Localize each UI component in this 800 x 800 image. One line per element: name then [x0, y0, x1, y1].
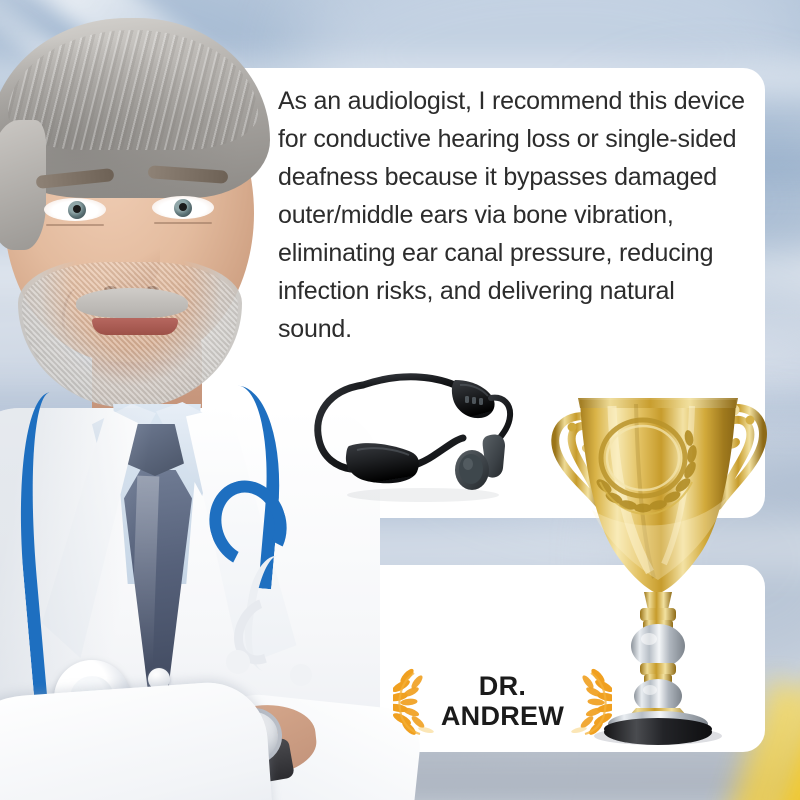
eye-crease: [154, 222, 212, 224]
mouth: [92, 318, 178, 335]
product-image-headphones: [305, 352, 535, 512]
arm-left: [0, 679, 276, 800]
ad-creative-canvas: As an audiologist, I recommend this devi…: [0, 0, 800, 800]
stethoscope-eartip: [226, 650, 250, 674]
doctor-name-badge: DR. ANDREW: [400, 660, 605, 742]
eye-left: [44, 198, 106, 221]
pupil: [73, 205, 81, 213]
mustache: [76, 288, 188, 318]
bone-conduction-headphones-icon: [305, 352, 535, 512]
doctor-name: DR. ANDREW: [439, 671, 566, 731]
testimonial-text: As an audiologist, I recommend this devi…: [278, 82, 748, 348]
pupil: [179, 203, 187, 211]
eye-crease: [46, 224, 104, 226]
eye-right: [152, 196, 214, 219]
laurel-wreath-right-icon: [566, 666, 612, 736]
laurel-wreath-left-icon: [393, 666, 439, 736]
stethoscope-eartip: [290, 664, 312, 686]
